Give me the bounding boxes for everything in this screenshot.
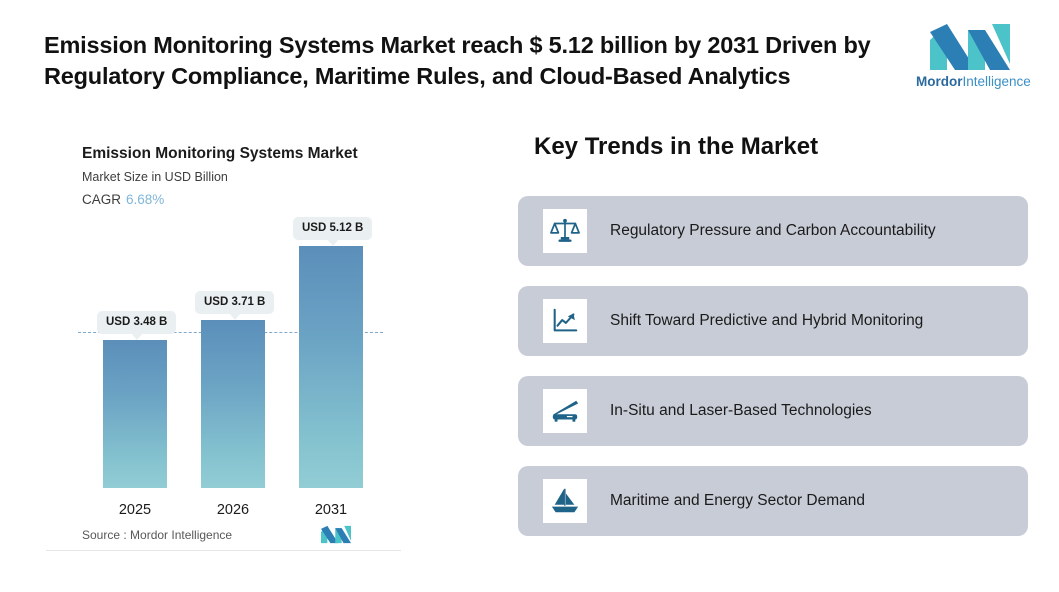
market-chart-panel: Emission Monitoring Systems Market Marke… [46,118,401,551]
chart-source: Source : Mordor Intelligence [82,528,232,542]
trend-card-label: Regulatory Pressure and Carbon Accountab… [610,196,1010,266]
bar-2026 [201,320,265,488]
mordor-intelligence-wordmark: MordorIntelligence [916,74,1024,89]
x-axis-label-2026: 2026 [201,502,265,518]
mordor-m-mark-icon [930,24,1010,70]
key-trends-heading: Key Trends in the Market [534,133,818,161]
page-title: Emission Monitoring Systems Market reach… [44,30,904,92]
mordor-m-mark-small-icon [321,525,351,544]
trend-card-maritime-demand[interactable]: Maritime and Energy Sector Demand [518,466,1028,536]
laser-scanner-icon [543,389,587,433]
trend-card-predictive-monitoring[interactable]: Shift Toward Predictive and Hybrid Monit… [518,286,1028,356]
bar-value-label-2026: USD 3.71 B [195,291,274,314]
trending-chart-icon [543,299,587,343]
brand-word-bold: Mordor [916,74,963,89]
x-axis-label-2031: 2031 [299,502,363,518]
page-header: Emission Monitoring Systems Market reach… [0,0,1059,108]
balance-scale-icon [543,209,587,253]
mordor-intelligence-logo: MordorIntelligence [916,24,1024,96]
x-axis-label-2025: 2025 [103,502,167,518]
trend-card-laser-technologies[interactable]: In-Situ and Laser-Based Technologies [518,376,1028,446]
bar-2025 [103,340,167,488]
brand-word-light: Intelligence [963,74,1031,89]
trend-card-label: Maritime and Energy Sector Demand [610,466,1010,536]
bar-2031 [299,246,363,488]
bar-value-label-2031: USD 5.12 B [293,217,372,240]
trend-card-label: In-Situ and Laser-Based Technologies [610,376,1010,446]
trend-card-regulatory-pressure[interactable]: Regulatory Pressure and Carbon Accountab… [518,196,1028,266]
bar-chart-plot: USD 3.48 B USD 3.71 B USD 5.12 B 2025 20… [46,118,401,550]
bar-value-label-2025: USD 3.48 B [97,311,176,334]
sailboat-icon [543,479,587,523]
key-trends-list: Regulatory Pressure and Carbon Accountab… [518,196,1028,556]
trend-card-label: Shift Toward Predictive and Hybrid Monit… [610,286,1010,356]
